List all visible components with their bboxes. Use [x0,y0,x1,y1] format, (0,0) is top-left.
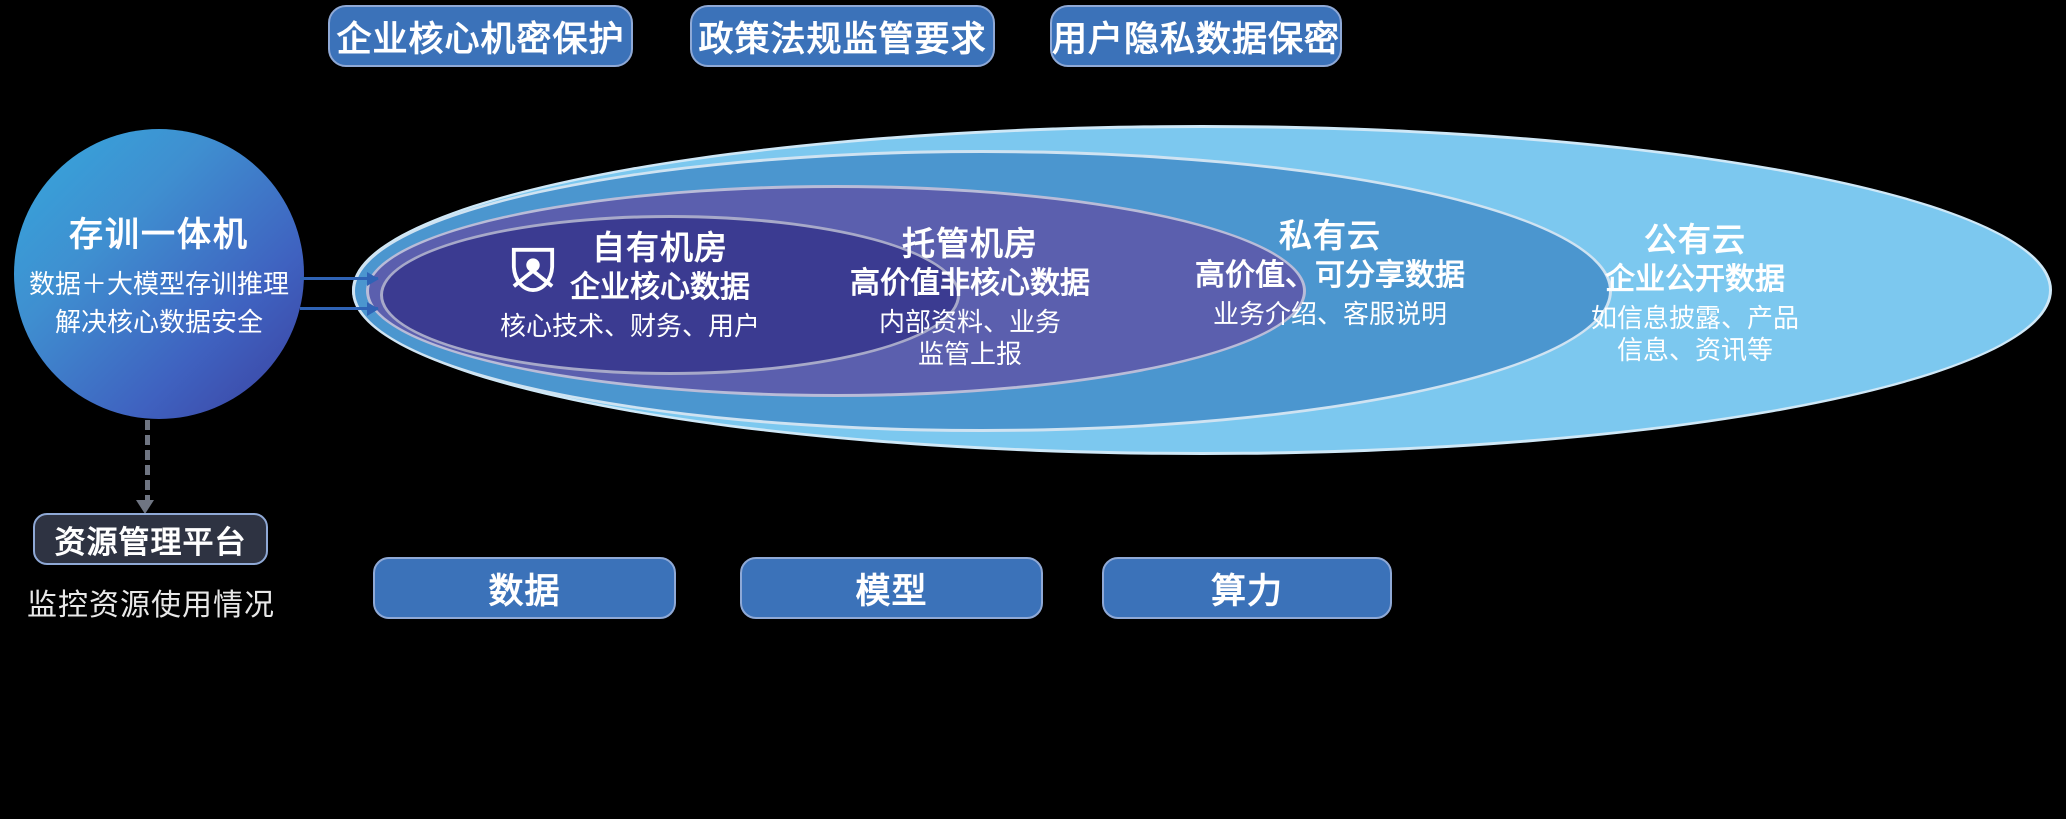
layer-detail-line2: 监管上报 [800,339,1140,370]
bottom-pill-label: 模型 [855,563,927,614]
layer-label-public-cloud[interactable]: 公有云 企业公开数据 如信息披露、产品 信息、资讯等 [1530,222,1860,366]
bottom-pill-label: 数据 [488,563,560,614]
layer-subtitle: 企业公开数据 [1530,262,1860,297]
layer-title: 托管机房 [800,226,1140,263]
layer-title: 自有机房 [570,230,750,267]
bottom-pill-model[interactable]: 模型 [740,557,1043,619]
top-pill-label: 企业核心机密保护 [336,11,624,62]
bottom-pill-compute[interactable]: 算力 [1102,557,1392,619]
top-pill-enterprise-secret[interactable]: 企业核心机密保护 [328,5,633,67]
layer-label-hosted-datacenter[interactable]: 托管机房 高价值非核心数据 内部资料、业务 监管上报 [800,226,1140,370]
resource-platform-caption: 监控资源使用情况 [20,580,282,624]
diagram-canvas: 企业核心机密保护 政策法规监管要求 用户隐私数据保密 自有机房 企业核心数据 核… [0,0,2066,819]
top-pill-label: 用户隐私数据保密 [1052,11,1340,62]
node-line-1: 数据＋大模型存训推理 [29,266,289,304]
layer-detail: 核心技术、财务、用户 [440,311,820,342]
top-pill-label: 政策法规监管要求 [698,11,986,62]
resource-management-platform-button[interactable]: 资源管理平台 [33,513,268,565]
layer-title: 私有云 [1140,218,1520,255]
layer-subtitle: 高价值非核心数据 [800,266,1140,301]
layer-subtitle: 企业核心数据 [570,270,750,305]
shield-lock-icon [510,244,556,292]
layer-label-private-cloud[interactable]: 私有云 高价值、可分享数据 业务介绍、客服说明 [1140,218,1520,331]
node-integrated-machine[interactable]: 存训一体机 数据＋大模型存训推理 解决核心数据安全 [14,129,304,419]
layer-detail-line1: 内部资料、业务 [800,307,1140,338]
bottom-pill-data[interactable]: 数据 [373,557,676,619]
layer-detail-line2: 信息、资讯等 [1530,335,1860,366]
bottom-pill-label: 算力 [1211,563,1283,614]
arrow-right-icon [300,307,378,310]
layer-detail-line1: 如信息披露、产品 [1530,303,1860,334]
dashed-connector [145,420,150,505]
layer-title: 公有云 [1530,222,1860,259]
layer-subtitle: 高价值、可分享数据 [1140,258,1520,293]
node-line-2: 解决核心数据安全 [55,304,263,342]
layer-label-own-datacenter[interactable]: 自有机房 企业核心数据 核心技术、财务、用户 [440,230,820,343]
layer-detail: 业务介绍、客服说明 [1140,299,1520,330]
top-pill-policy-regulation[interactable]: 政策法规监管要求 [690,5,995,67]
resource-platform-label: 资源管理平台 [55,517,247,562]
node-title: 存训一体机 [69,207,249,256]
arrow-right-icon [300,277,378,280]
top-pill-user-privacy[interactable]: 用户隐私数据保密 [1050,5,1342,67]
arrow-down-icon [136,500,154,514]
